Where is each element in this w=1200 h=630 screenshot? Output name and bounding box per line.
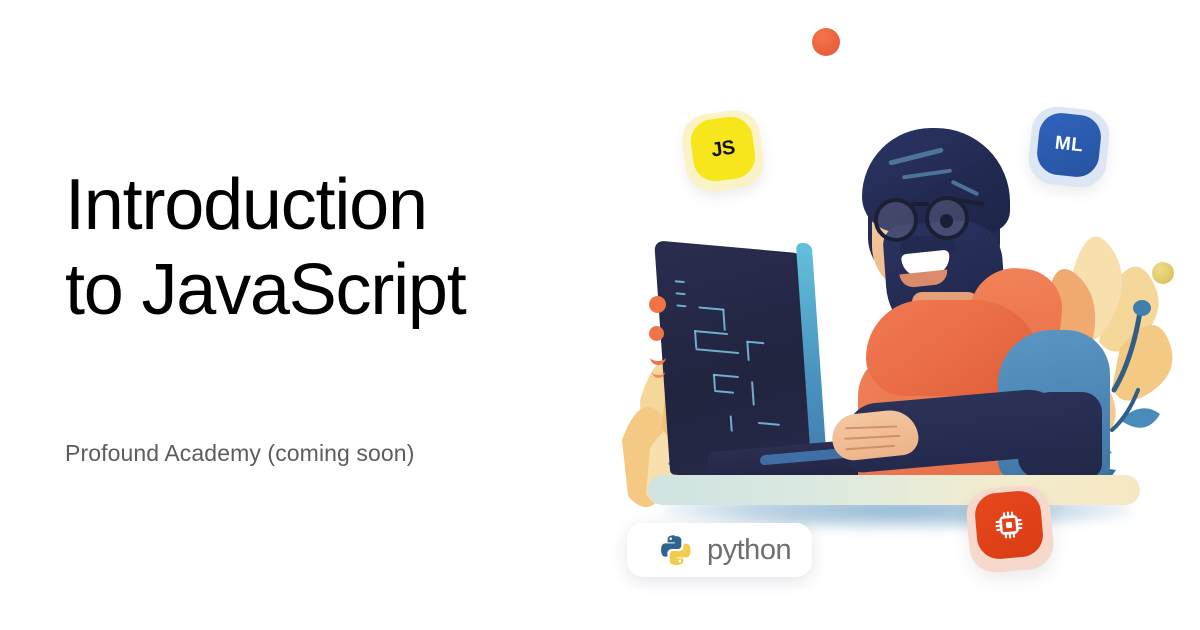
ml-badge[interactable]: ML bbox=[1035, 111, 1103, 179]
orange-dot-smaller-icon bbox=[649, 326, 664, 341]
orange-dot-icon bbox=[812, 28, 840, 56]
glasses-bridge bbox=[911, 202, 929, 206]
python-logo-icon bbox=[657, 532, 693, 568]
page-title: Introduction to JavaScript bbox=[65, 163, 585, 333]
python-badge[interactable]: python bbox=[627, 523, 812, 577]
orange-dot-small-icon bbox=[649, 296, 666, 313]
platform bbox=[648, 475, 1140, 505]
subtitle: Profound Academy (coming soon) bbox=[65, 440, 585, 467]
course-social-card: Introduction to JavaScript Profound Acad… bbox=[0, 0, 1200, 630]
hand bbox=[830, 408, 920, 463]
eye-pupil bbox=[940, 214, 953, 228]
chip-badge[interactable] bbox=[973, 489, 1045, 561]
js-badge-label: JS bbox=[710, 136, 736, 162]
text-column: Introduction to JavaScript Profound Acad… bbox=[65, 0, 585, 630]
yellow-dot-icon bbox=[1152, 262, 1174, 284]
python-badge-label: python bbox=[707, 536, 791, 565]
hero-illustration: JS ML bbox=[600, 0, 1200, 630]
ml-badge-label: ML bbox=[1054, 133, 1084, 158]
cpu-chip-icon bbox=[991, 507, 1028, 544]
